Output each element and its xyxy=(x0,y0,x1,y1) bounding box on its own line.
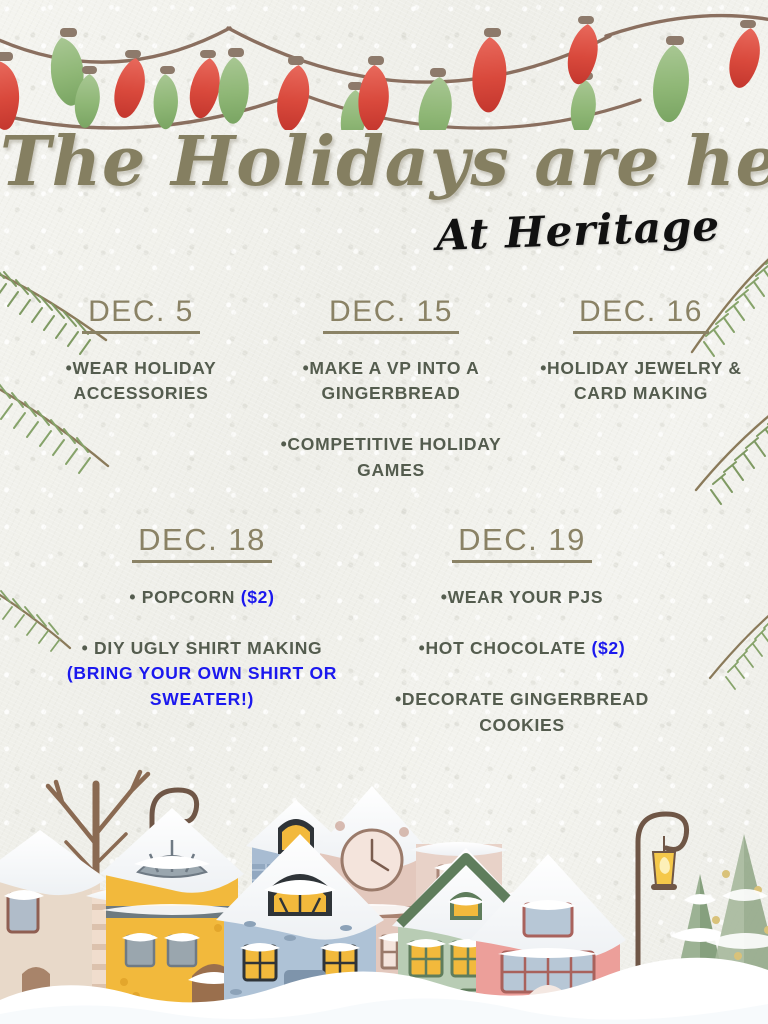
event-item-text: • DIY UGLY SHIRT MAKING xyxy=(82,638,323,658)
page-subtitle: At Heritage xyxy=(435,201,721,260)
event-items-dec-15: •MAKE A VP INTO A GINGERBREAD •COMPETITI… xyxy=(272,356,510,510)
winter-village-illustration xyxy=(0,724,768,1024)
date-heading-dec-18: DEC. 18 xyxy=(132,524,272,563)
date-heading-dec-16: DEC. 16 xyxy=(573,296,709,334)
date-heading-dec-19: DEC. 19 xyxy=(452,524,592,563)
holiday-poster: The Holidays are here At Heritage xyxy=(0,0,768,1024)
event-item-text: • POPCORN xyxy=(129,587,240,607)
string-lights-decoration xyxy=(0,0,768,130)
date-heading-dec-15: DEC. 15 xyxy=(323,296,459,334)
event-item-text: •WEAR YOUR PJS xyxy=(441,587,603,607)
bulb-green-8 xyxy=(651,36,692,123)
event-item-highlight: (BRING YOUR OWN SHIRT OR SWEATER!) xyxy=(67,663,337,708)
event-column-dec-15: DEC. 15 •MAKE A VP INTO A GINGERBREAD •C… xyxy=(266,296,516,509)
event-item: •HOT CHOCOLATE ($2) xyxy=(378,636,666,661)
event-items-dec-5: •WEAR HOLIDAY ACCESSORIES xyxy=(22,356,260,433)
events-top-row: DEC. 5 •WEAR HOLIDAY ACCESSORIES DEC. 15… xyxy=(0,296,768,509)
event-item-text: •COMPETITIVE HOLIDAY GAMES xyxy=(281,434,502,479)
event-item-text: •HOLIDAY JEWELRY & CARD MAKING xyxy=(540,358,742,403)
bulb-green-4 xyxy=(216,48,251,125)
event-item: •HOLIDAY JEWELRY & CARD MAKING xyxy=(522,356,760,407)
date-heading-dec-5: DEC. 5 xyxy=(82,296,200,334)
event-item: •WEAR HOLIDAY ACCESSORIES xyxy=(22,356,260,407)
event-item: •MAKE A VP INTO A GINGERBREAD xyxy=(272,356,510,407)
bulb-green-3 xyxy=(150,66,181,130)
event-item: • POPCORN ($2) xyxy=(58,585,346,610)
bulb-green-6 xyxy=(417,68,453,130)
event-item-text: •HOT CHOCOLATE xyxy=(419,638,592,658)
bulb-red-8 xyxy=(727,20,762,90)
page-title: The Holidays are here xyxy=(0,128,768,196)
event-items-dec-16: •HOLIDAY JEWELRY & CARD MAKING xyxy=(522,356,760,433)
event-item: •WEAR YOUR PJS xyxy=(378,585,666,610)
event-column-dec-16: DEC. 16 •HOLIDAY JEWELRY & CARD MAKING xyxy=(516,296,766,509)
bulb-red-7 xyxy=(566,16,599,85)
bulb-red-3 xyxy=(188,50,221,119)
bulb-red-6 xyxy=(469,28,510,114)
bulb-red-4 xyxy=(275,56,312,130)
event-column-dec-5: DEC. 5 •WEAR HOLIDAY ACCESSORIES xyxy=(16,296,266,509)
event-items-dec-18: • POPCORN ($2) • DIY UGLY SHIRT MAKING (… xyxy=(58,585,346,739)
event-item-highlight: ($2) xyxy=(591,638,625,658)
event-item: • DIY UGLY SHIRT MAKING (BRING YOUR OWN … xyxy=(58,636,346,712)
poster-title-block: The Holidays are here At Heritage xyxy=(0,128,768,196)
event-item-highlight: ($2) xyxy=(241,587,275,607)
event-item: •COMPETITIVE HOLIDAY GAMES xyxy=(272,432,510,483)
event-item-text: •WEAR HOLIDAY ACCESSORIES xyxy=(66,358,217,403)
event-item-text: •MAKE A VP INTO A GINGERBREAD xyxy=(303,358,480,403)
